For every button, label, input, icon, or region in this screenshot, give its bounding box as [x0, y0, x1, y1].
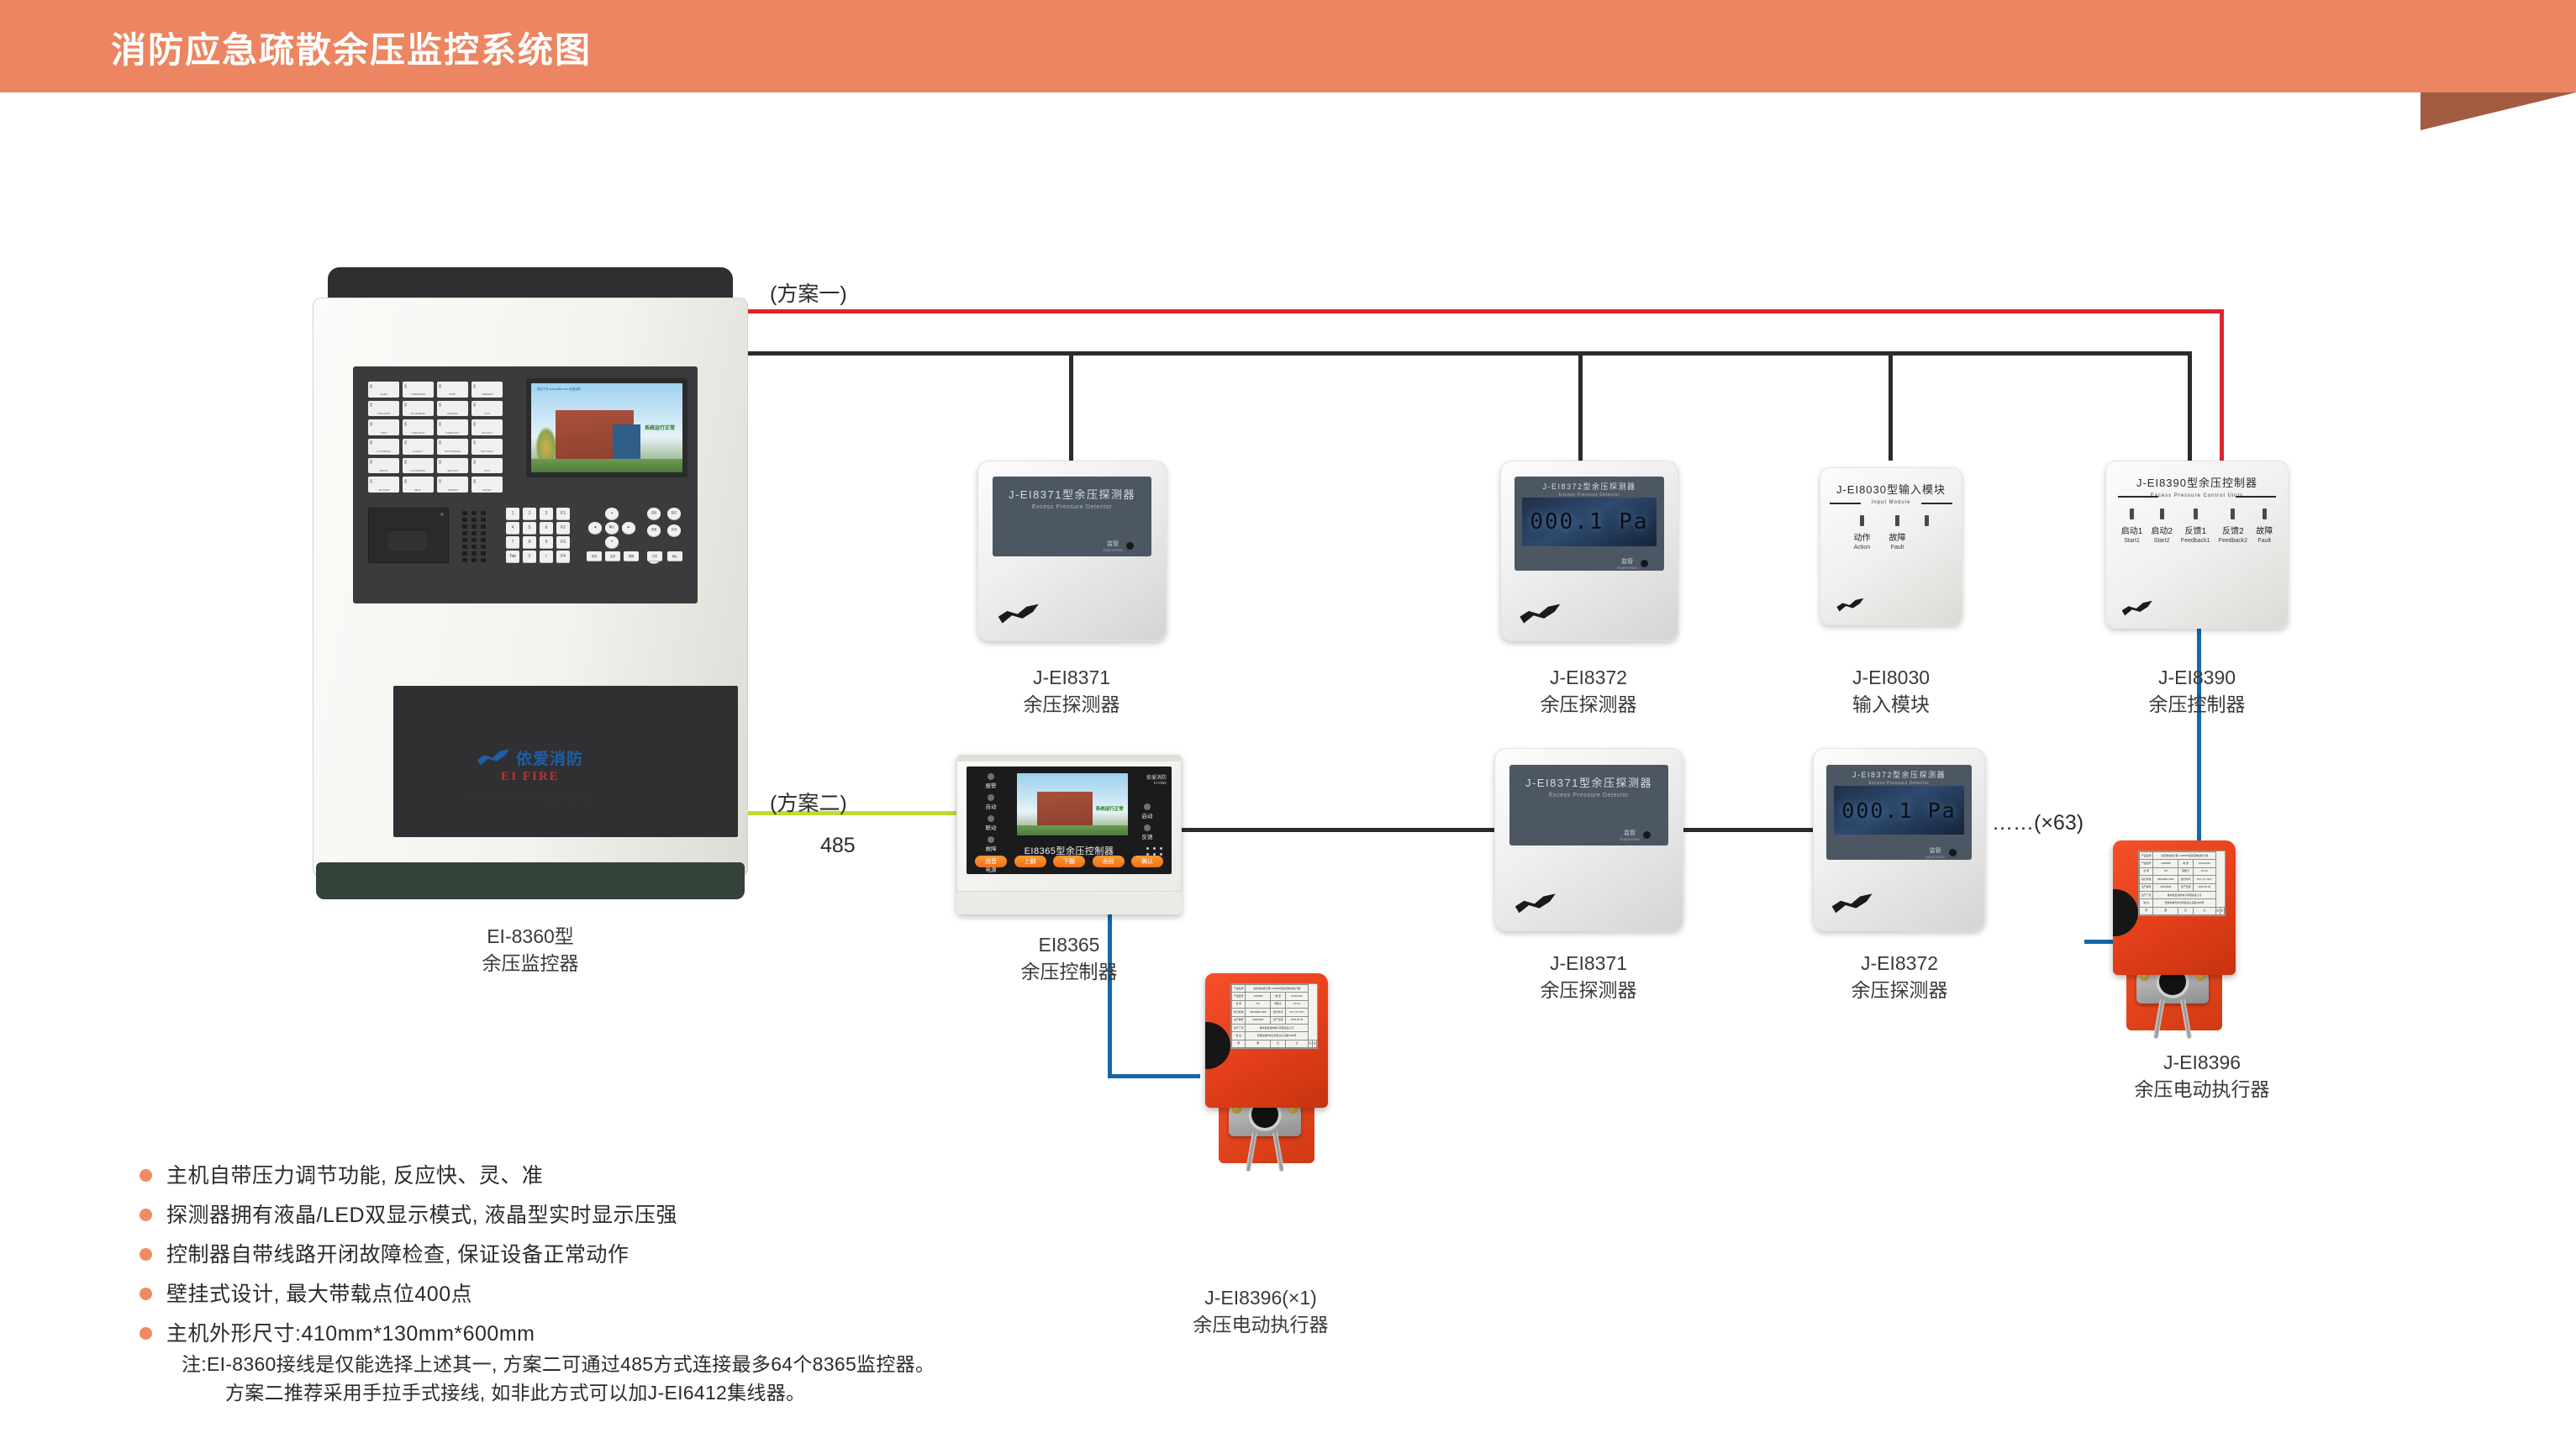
panel-led-key-label: SELF TEST — [447, 471, 458, 473]
spec-cell: 安徽省蚌埠市高新区虎山东路1098号 — [2153, 899, 2215, 907]
spec-cell: 余压电动执行器 J-EI8396型余压电动执行器 — [2153, 852, 2215, 860]
spec-cell: GB16806-2006 — [1246, 1009, 1271, 1016]
panel-led-key-label: SYS WORKING — [411, 471, 426, 473]
caption-name: 余压电动执行器 — [1135, 1311, 1387, 1338]
status-led: 故障Fault — [2256, 508, 2273, 544]
panel-led-key-label: TRANSMIT — [447, 490, 458, 493]
brand-name-en: EI FIRE — [313, 770, 748, 784]
keypad-key[interactable]: 9 — [540, 536, 553, 548]
speaker-slot — [471, 524, 477, 529]
banner-tail — [2471, 0, 2576, 92]
page-title: 消防应急疏散余压监控系统图 — [111, 22, 592, 73]
keypad-key[interactable]: 2 — [523, 508, 536, 519]
spec-cell: 电 源 — [1271, 993, 1286, 1000]
panel-lcd-screen[interactable]: 国大于天 www.eifire.com 依爱消防 系统运行正常 — [531, 383, 682, 472]
keypad-key[interactable]: F2 — [556, 522, 570, 534]
controller-button-row[interactable]: 消音上翻下翻返回确认 — [975, 856, 1163, 867]
wire-black-8365-8371 — [1180, 828, 1496, 832]
panel-led-key[interactable]: SUPERVISION — [403, 382, 434, 398]
panel-led-key[interactable]: OPEN FAULT — [403, 419, 434, 435]
caption-name: 余压控制器 — [943, 958, 1195, 985]
banner-fold-shadow — [2421, 92, 2576, 130]
panel-led-key[interactable]: MANUAL — [471, 477, 503, 493]
detector-screen: J-EI8371型余压探测器 Excess Pressure Detector … — [993, 477, 1151, 556]
panel-led-key-label: S&L START — [378, 490, 389, 493]
controller-lcd-screen[interactable]: 系统运行正常 — [1017, 773, 1128, 835]
panel-led-key-label: S&L FAULT — [482, 433, 493, 435]
spec-cell: AC/DC24V — [1286, 993, 1309, 1000]
controller-led-label: 反馈 — [1128, 832, 1167, 840]
bullet-dot-icon — [140, 1288, 152, 1300]
controller-brand: 依爱消防 EI FIRE — [1146, 773, 1167, 785]
keypad-key[interactable]: 7 — [506, 536, 519, 548]
bus-485-label: 485 — [820, 834, 856, 858]
panel-led-key[interactable]: SYS WORKING — [403, 458, 434, 474]
panel-led-indicator-grid[interactable]: ALARMSUPERVISIONSTARTFEEDBACKPRE-ALARMS&… — [368, 382, 503, 493]
panel-led-key[interactable]: BATT FAULT — [471, 439, 503, 455]
spec-row: 产品名称余压电动执行器 J-EI8396型余压电动执行器 — [2140, 852, 2225, 860]
device-j-ei8030-module[interactable]: J-EI8030型输入模块 Input Module 动作Action故障Fau… — [1820, 467, 1962, 625]
keypad-key[interactable]: 8 — [523, 536, 536, 548]
spec-row: 产品型号J-EI8396电 源AC/DC24V — [1232, 993, 1317, 1000]
speaker-slot — [481, 558, 486, 562]
wire-red-vertical — [2220, 309, 2224, 465]
feature-item: 主机自带压力调节功能, 反应快、灵、准 — [140, 1162, 1106, 1190]
panel-led-key[interactable]: ALARM — [368, 382, 399, 398]
caption-ei8365: EI8365 余压控制器 — [943, 931, 1195, 985]
detector-face-title: J-EI8372型余压探测器 — [1826, 769, 1971, 780]
controller-button[interactable]: 上翻 — [1014, 856, 1046, 867]
status-led-label-en: Fault — [2256, 538, 2273, 544]
detector-screen: J-EI8372型余压探测器 Excess Pressure Detector … — [1826, 765, 1971, 860]
footnote-line-2: 方案二推荐采用手拉手式接线, 如非此方式可以加J-EI6412集线器。 — [225, 1378, 1232, 1407]
actuator-spec-table: 产品名称余压电动执行器 J-EI8396型余压电动执行器产品型号J-EI8396… — [1231, 984, 1317, 1048]
wire-black-bus — [746, 351, 2192, 356]
detector-face-subtitle: Excess Pressure Detector — [1826, 781, 1971, 786]
lcd-ground-graphic — [1017, 825, 1128, 835]
device-j-ei8372-top[interactable]: J-EI8372型余压探测器 Excess Pressure Detector … — [1500, 461, 1678, 641]
panel-led-key-label: COMM FAULT — [446, 433, 460, 435]
actuator-spec-plate: 产品名称余压电动执行器 J-EI8396型余压电动执行器产品型号J-EI8396… — [2138, 851, 2226, 916]
ei8360-caption-model: EI-8360型 — [371, 923, 690, 950]
panel-model-plate: EI-8360型余压监控器 — [313, 788, 748, 805]
spec-cell: J-EI8396 — [1246, 993, 1271, 1000]
ei-fire-logo-icon — [2122, 600, 2152, 617]
spec-cell: 产品名称 — [1232, 985, 1246, 993]
device-j-ei8372-bottom[interactable]: J-EI8372型余压探测器 Excess Pressure Detector … — [1813, 748, 1985, 931]
speaker-slot — [481, 551, 486, 556]
panel-body: ALARMSUPERVISIONSTARTFEEDBACKPRE-ALARMS&… — [313, 298, 748, 877]
spec-cell: 20200606 — [2153, 883, 2178, 891]
speaker-slot — [481, 531, 486, 535]
spec-row: 生产厂家蚌埠依爱消防电子有限责任公司 — [1232, 1024, 1317, 1031]
wire-blue-8396-inlet — [1108, 1074, 1200, 1078]
feature-item: 主机外形尺寸:410mm*130mm*600mm — [140, 1320, 1106, 1348]
spec-row: 产品名称余压电动执行器 J-EI8396型余压电动执行器 — [1232, 985, 1317, 993]
supervision-led-group: 监管 Supervision — [1620, 829, 1640, 841]
wire-color-cell: 黄 — [1232, 1040, 1246, 1047]
spec-cell: 运行时间 — [1271, 1009, 1286, 1016]
panel-led-key[interactable]: SELF TEST — [437, 458, 468, 474]
brand-name-cn: 依爱消防 — [516, 746, 583, 769]
panel-led-key[interactable]: COMM FAULT — [437, 419, 468, 435]
device-j-ei8390-controller[interactable]: J-EI8390型余压控制器 Excess Pressure Control U… — [2105, 461, 2289, 629]
controller-face: 报警自动联动故障电源 系统运行正常 依爱消防 EI FIRE 启动反馈 EI83… — [967, 767, 1172, 874]
spec-cell: 生产厂家 — [1232, 1024, 1246, 1031]
keypad-function-key[interactable]: 消音 — [647, 524, 661, 536]
controller-led-dot — [988, 794, 994, 801]
supervision-led-dot — [1641, 560, 1648, 567]
detector-face-subtitle: Excess Pressure Detector — [993, 504, 1151, 510]
brand-name-en: EI FIRE — [1146, 781, 1167, 785]
speaker-slot — [471, 551, 477, 556]
spec-cell: 生产日期 — [2178, 883, 2194, 891]
feature-item: 探测器拥有液晶/LED双显示模式, 液晶型实时显示压强 — [140, 1201, 1106, 1230]
caption-model: J-EI8390 — [2071, 664, 2323, 691]
panel-led-key-label: AC WORKING — [377, 452, 390, 455]
keypad-bottom-key[interactable]: 启动 — [605, 551, 620, 561]
spec-row: 地 址安徽省蚌埠市高新区虎山东路1098号 — [2140, 899, 2225, 907]
speaker-slot — [481, 524, 486, 529]
supervision-label-en: Supervision — [1620, 837, 1640, 841]
lcd-status-text: 系统运行正常 — [645, 424, 675, 431]
detector-screen: J-EI8372型余压探测器 Excess Pressure Detector … — [1515, 477, 1664, 571]
feature-item: 壁挂式设计, 最大带载点位400点 — [140, 1280, 1106, 1309]
controller-status-led: 启动 — [1128, 803, 1167, 819]
feature-item: 控制器自带线路开闭故障检查, 保证设备正常动作 — [140, 1241, 1106, 1269]
device-j-ei8371-bottom[interactable]: J-EI8371型余压探测器 Excess Pressure Detector … — [1494, 748, 1683, 931]
panel-led-key-label: AUTO — [484, 471, 490, 473]
keypad-key[interactable]: 4 — [506, 522, 519, 534]
panel-led-key-label: MANUAL — [482, 490, 491, 493]
feature-text: 探测器拥有液晶/LED双显示模式, 液晶型实时显示压强 — [166, 1201, 677, 1230]
panel-led-key[interactable]: AC WORKING — [368, 439, 399, 455]
panel-led-key-label: AUTO — [484, 414, 490, 416]
panel-led-key[interactable]: PRE-ALARM — [368, 401, 399, 417]
device-j-ei8396-right[interactable]: 产品名称余压电动执行器 J-EI8396型余压电动执行器产品型号J-EI8396… — [2101, 840, 2236, 1038]
panel-led-key-label: AC FAULT — [414, 452, 424, 455]
status-led-label-cn: 故障 — [1889, 530, 1906, 543]
module-led-group: 动作Action故障Fault — [1820, 515, 1962, 551]
controller-led-dot — [988, 815, 994, 822]
lcd-logo-text: 国大于天 www.eifire.com 依爱消防 — [537, 387, 581, 391]
speaker-slot — [462, 531, 467, 535]
caption-model: J-EI8396(×1) — [1135, 1284, 1387, 1311]
controller-button[interactable]: 消音 — [975, 856, 1007, 867]
panel-led-key-label: INDICTR — [379, 471, 387, 473]
status-led-label-en: Start2 — [2151, 538, 2173, 544]
keypad-key[interactable]: 3 — [540, 508, 553, 519]
status-led-label-cn: 启动1 — [2121, 524, 2143, 536]
lcd-tree-graphic — [535, 426, 556, 461]
keypad-nav-key[interactable]: ▼ — [605, 536, 619, 548]
keypad-function-key[interactable]: 复位 — [667, 508, 681, 519]
speaker-slot — [481, 538, 486, 542]
status-led-bar — [1925, 515, 1929, 526]
feature-text: 主机外形尺寸:410mm*130mm*600mm — [166, 1320, 535, 1348]
keypad-key[interactable]: F1 — [556, 508, 570, 519]
panel-led-key[interactable]: INDICTR — [368, 458, 399, 474]
keypad-nav-key[interactable]: ▲ — [605, 508, 619, 519]
panel-speaker-grille — [462, 511, 486, 561]
spec-cell: 生产编号 — [2140, 883, 2153, 891]
spec-cell: 转矩力 — [2178, 867, 2194, 875]
wire-color-cell: 兰 — [1286, 1040, 1309, 1047]
spec-cell: 地 址 — [1232, 1032, 1246, 1040]
caption-j-ei8390: J-EI8390 余压控制器 — [2071, 664, 2323, 718]
keypad-bottom-key[interactable]: 屏蔽 — [624, 551, 639, 561]
spec-cell: 产品型号 — [1232, 993, 1246, 1000]
spec-cell: 产品名称 — [2140, 852, 2153, 860]
lcd-ground-graphic — [531, 459, 682, 472]
controller-status-led: 反馈 — [1128, 825, 1167, 840]
brand-name-cn: 依爱消防 — [1146, 773, 1167, 781]
ei8360-caption: EI-8360型 余压监控器 — [371, 923, 690, 977]
keypad-function-key[interactable]: 自动 — [667, 524, 681, 536]
controller-led-group-right: 启动反馈 — [1128, 803, 1167, 846]
wire-color-cell: 兰 — [2194, 907, 2216, 914]
spec-row: 生产编号20200606生产日期2020.06.30 — [1232, 1016, 1317, 1024]
panel-led-key[interactable]: S&L START — [368, 477, 399, 493]
panel-led-key[interactable]: AUTO — [471, 401, 503, 417]
keypad-bottom-key[interactable]: 打印 — [647, 551, 662, 561]
keypad-key[interactable]: Tab — [506, 551, 519, 562]
spec-cell: J-EI8396 — [2153, 860, 2178, 867]
controller-led-label: 联动 — [972, 823, 1010, 831]
panel-led-key[interactable]: DISABLED — [437, 401, 468, 417]
wire-black-drop-det8372 — [1578, 351, 1583, 461]
speaker-slot — [471, 545, 477, 549]
speaker-dot — [1153, 847, 1156, 850]
status-led-label-en: Feedback2 — [2219, 538, 2248, 544]
speaker-slot — [462, 558, 467, 562]
panel-led-key[interactable]: FEEDBACK — [471, 382, 503, 398]
spec-cell: 15 Nm — [2194, 867, 2216, 875]
speaker-slot — [462, 511, 467, 515]
panel-led-key-label: SUPERVISION — [411, 395, 425, 398]
status-led-label-cn: 故障 — [2256, 524, 2273, 536]
actuator-body: 产品名称余压电动执行器 J-EI8396型余压电动执行器产品型号J-EI8396… — [2113, 840, 2236, 975]
status-led-label-cn: 启动2 — [2151, 524, 2173, 536]
wire-color-cell: 红 — [1271, 1040, 1286, 1047]
keypad-key[interactable]: 1 — [506, 508, 519, 519]
speaker-slot — [462, 545, 467, 549]
wire-color-cell: 红 — [2178, 907, 2194, 914]
spec-row: 生产编号20200606生产日期2020.06.30 — [2140, 883, 2225, 891]
caption-model: J-EI8030 — [1765, 664, 2017, 691]
ei-fire-logo-icon — [1515, 893, 1556, 914]
spec-cell: 蚌埠依爱消防电子有限责任公司 — [2153, 891, 2215, 898]
detector-face-title: J-EI8372型余压探测器 — [1515, 481, 1664, 492]
controller-face-subtitle: Excess Pressure Control Units — [2105, 493, 2289, 498]
wire-black-drop-ctrl8390 — [2188, 351, 2192, 465]
panel-led-key-label: S&L DISABLED — [411, 414, 425, 416]
status-led-label-cn: 反馈1 — [2181, 524, 2210, 536]
caption-name: 余压电动执行器 — [2076, 1076, 2328, 1103]
controller-button[interactable]: 返回 — [1093, 856, 1125, 867]
panel-led-key[interactable]: TRANSMIT — [437, 477, 468, 493]
speaker-slot — [471, 531, 477, 535]
speaker-slot — [462, 551, 467, 556]
wire-black-8371-8372 — [1681, 828, 1815, 832]
wire-black-drop-mod8030 — [1889, 351, 1893, 461]
keypad-nav-key[interactable]: 确认 — [605, 522, 619, 534]
spec-cell: GB16806-2006 — [2153, 876, 2178, 883]
supervision-led-group: 监管 Supervision — [1103, 540, 1123, 552]
wire-color-cell: 黑 — [1246, 1040, 1271, 1047]
speaker-slot — [471, 558, 477, 562]
panel-led-key[interactable]: START — [437, 382, 468, 398]
panel-led-key[interactable]: DELAY — [403, 477, 434, 493]
keypad-key[interactable]: 6 — [540, 522, 553, 534]
panel-led-key[interactable]: S&L DISABLED — [403, 401, 434, 417]
spec-row: 地 址安徽省蚌埠市高新区虎山东路1098号 — [1232, 1032, 1317, 1040]
caption-model: J-EI8396 — [2076, 1049, 2328, 1076]
spec-wire-row: 黄黑红兰白白 — [2140, 907, 2225, 914]
spec-cell: 15 Nm — [1286, 1000, 1309, 1008]
supervision-label-cn: 监管 — [1620, 829, 1640, 837]
status-led-label-en: Feedback1 — [2181, 538, 2210, 544]
bullet-dot-icon — [140, 1327, 152, 1340]
spec-cell: 7W — [2153, 867, 2178, 875]
status-led-bar — [2160, 508, 2164, 519]
ei8360-monitor-panel[interactable]: ALARMSUPERVISIONSTARTFEEDBACKPRE-ALARMS&… — [313, 267, 748, 899]
ei8360-caption-name: 余压监控器 — [371, 950, 690, 977]
keypad-function-key[interactable]: 自检 — [647, 508, 661, 519]
controller-led-label: 自动 — [972, 802, 1010, 810]
controller-led-group: 启动1Start1启动2Start2反馈1Feedback1反馈2Feedbac… — [2105, 508, 2289, 544]
device-j-ei8371-top[interactable]: J-EI8371型余压探测器 Excess Pressure Detector … — [977, 461, 1167, 641]
spec-cell: 功 率 — [2140, 867, 2153, 875]
controller-led-label: 报警 — [972, 781, 1010, 789]
din-rail-bottom — [956, 891, 1182, 914]
keypad-nav-key[interactable]: ◀ — [588, 522, 602, 534]
ei-fire-logo-icon — [1836, 598, 1863, 613]
status-led-bar — [1860, 515, 1864, 526]
status-led-label-en: Action — [1854, 545, 1871, 551]
spec-cell: 生产编号 — [1232, 1016, 1246, 1024]
ei-fire-logo-icon — [1520, 603, 1560, 625]
pressure-reading: 000.1 Pa — [1841, 798, 1956, 823]
caption-model: J-EI8371 — [1462, 950, 1715, 977]
caption-model: J-EI8371 — [946, 664, 1198, 691]
speaker-slot — [462, 524, 467, 529]
spec-cell: 地 址 — [2140, 899, 2153, 907]
speaker-slot — [481, 518, 486, 522]
controller-face-title: J-EI8390型余压控制器 — [2105, 474, 2289, 490]
spec-cell: 产品型号 — [2140, 860, 2153, 867]
controller-button[interactable]: 下翻 — [1053, 856, 1085, 867]
panel-keypad[interactable]: 123F1456F2789F3Tab0/F4▲◀确认▶▼自检复位消音自动手动查询… — [506, 508, 684, 566]
panel-lcd-frame: 国大于天 www.eifire.com 依爱消防 系统运行正常 — [526, 378, 687, 477]
caption-model: EI8365 — [943, 931, 1195, 958]
detector-lcd-display: 000.1 Pa — [1834, 786, 1964, 835]
spec-cell: AC/DC24V — [2194, 860, 2216, 867]
keypad-nav-key[interactable]: ▶ — [622, 522, 635, 534]
controller-status-led: 自动 — [972, 794, 1010, 810]
panel-led-key[interactable]: BATT WORKING — [437, 439, 468, 455]
controller-led-label: 启动 — [1128, 811, 1167, 819]
supervision-label-en: Supervision — [1103, 548, 1123, 552]
keypad-key[interactable]: F4 — [556, 551, 570, 562]
status-led-label-en: Fault — [1889, 545, 1906, 551]
detector-screen: J-EI8371型余压探测器 Excess Pressure Detector … — [1509, 765, 1668, 846]
spec-wire-row: 黄黑红兰白白 — [1232, 1040, 1317, 1047]
ei-fire-logo-icon — [477, 749, 509, 767]
status-led-bar — [2194, 508, 2198, 519]
detector-face-subtitle: Excess Pressure Detector — [1509, 793, 1668, 798]
keypad-key[interactable]: F3 — [556, 536, 570, 548]
caption-j-ei8372-bottom: J-EI8372 余压探测器 — [1773, 950, 2026, 1004]
panel-base — [316, 862, 745, 899]
device-j-ei8396-bottom[interactable]: 产品名称余压电动执行器 J-EI8396型余压电动执行器产品型号J-EI8396… — [1193, 973, 1328, 1171]
spec-cell: 转矩力 — [1271, 1000, 1286, 1008]
caption-j-ei8371-top: J-EI8371 余压探测器 — [946, 664, 1198, 718]
keypad-key[interactable]: / — [540, 551, 553, 562]
scheme-2-label: (方案二) — [770, 787, 847, 817]
wire-black-drop-det8371 — [1069, 351, 1073, 461]
actuator-spec-plate: 产品名称余压电动执行器 J-EI8396型余压电动执行器产品型号J-EI8396… — [1230, 983, 1318, 1049]
wire-color-cell: 黑 — [2153, 907, 2178, 914]
status-led: 动作Action — [1854, 515, 1871, 551]
actuator-cable-notch — [2113, 889, 2138, 936]
spec-cell: 执行标准 — [1232, 1009, 1246, 1016]
panel-led-key[interactable]: S&L FAULT — [471, 419, 503, 435]
caption-j-ei8396-right: J-EI8396 余压电动执行器 — [2076, 1049, 2328, 1103]
speaker-slot — [462, 538, 467, 542]
panel-led-key[interactable]: FAULT — [368, 419, 399, 435]
panel-led-key-label: DISABLED — [447, 414, 457, 416]
caption-j-ei8372-top: J-EI8372 余压探测器 — [1462, 664, 1715, 718]
panel-printer[interactable] — [368, 508, 449, 563]
panel-led-key-label: START — [450, 395, 456, 398]
spec-row: 功 率7W转矩力15 Nm — [1232, 1000, 1317, 1008]
speaker-slot — [471, 538, 477, 542]
status-led-label-cn: 动作 — [1854, 530, 1871, 543]
feature-bullet-list: 主机自带压力调节功能, 反应快、灵、准探测器拥有液晶/LED双显示模式, 液晶型… — [140, 1162, 1106, 1359]
panel-led-key-label: DELAY — [415, 490, 422, 493]
keypad-key[interactable]: 0 — [523, 551, 536, 562]
speaker-dot — [1146, 847, 1149, 850]
footnote-line-1: 注:EI-8360接线是仅能选择上述其一, 方案二可通过485方式连接最多64个… — [182, 1350, 1232, 1378]
panel-led-key[interactable]: AC FAULT — [403, 439, 434, 455]
panel-led-key-label: OPEN FAULT — [412, 433, 424, 435]
spec-cell: 50 S (0～90°) — [2194, 876, 2216, 883]
bullet-dot-icon — [140, 1209, 152, 1221]
keypad-key[interactable]: 5 — [523, 522, 536, 534]
spec-cell: 蚌埠依爱消防电子有限责任公司 — [1246, 1024, 1308, 1031]
keypad-bottom-key[interactable]: 确认 — [667, 551, 682, 561]
actuator-body: 产品名称余压电动执行器 J-EI8396型余压电动执行器产品型号J-EI8396… — [1205, 973, 1328, 1108]
status-led: 故障Fault — [1889, 515, 1906, 551]
controller-button[interactable]: 确认 — [1131, 856, 1163, 867]
caption-name: 余压探测器 — [1462, 691, 1715, 718]
spec-cell: 运行时间 — [2178, 876, 2194, 883]
panel-led-key-label: PRE-ALARM — [377, 414, 389, 416]
detector-face-title: J-EI8371型余压探测器 — [1509, 774, 1668, 790]
status-led — [1925, 515, 1929, 551]
keypad-bottom-key[interactable]: 查询 — [587, 551, 602, 561]
caption-model: J-EI8372 — [1462, 664, 1715, 691]
device-ei8365-controller[interactable]: 报警自动联动故障电源 系统运行正常 依爱消防 EI FIRE 启动反馈 EI83… — [956, 755, 1182, 914]
panel-led-key[interactable]: AUTO — [471, 458, 503, 474]
spec-cell: 电 源 — [2178, 860, 2194, 867]
controller-led-dot — [1144, 803, 1151, 810]
spec-cell: 余压电动执行器 J-EI8396型余压电动执行器 — [1246, 985, 1308, 993]
supervision-label-en: Supervision — [1925, 855, 1946, 859]
caption-j-ei8030: J-EI8030 输入模块 — [1765, 664, 2017, 718]
controller-led-dot — [1144, 825, 1151, 831]
